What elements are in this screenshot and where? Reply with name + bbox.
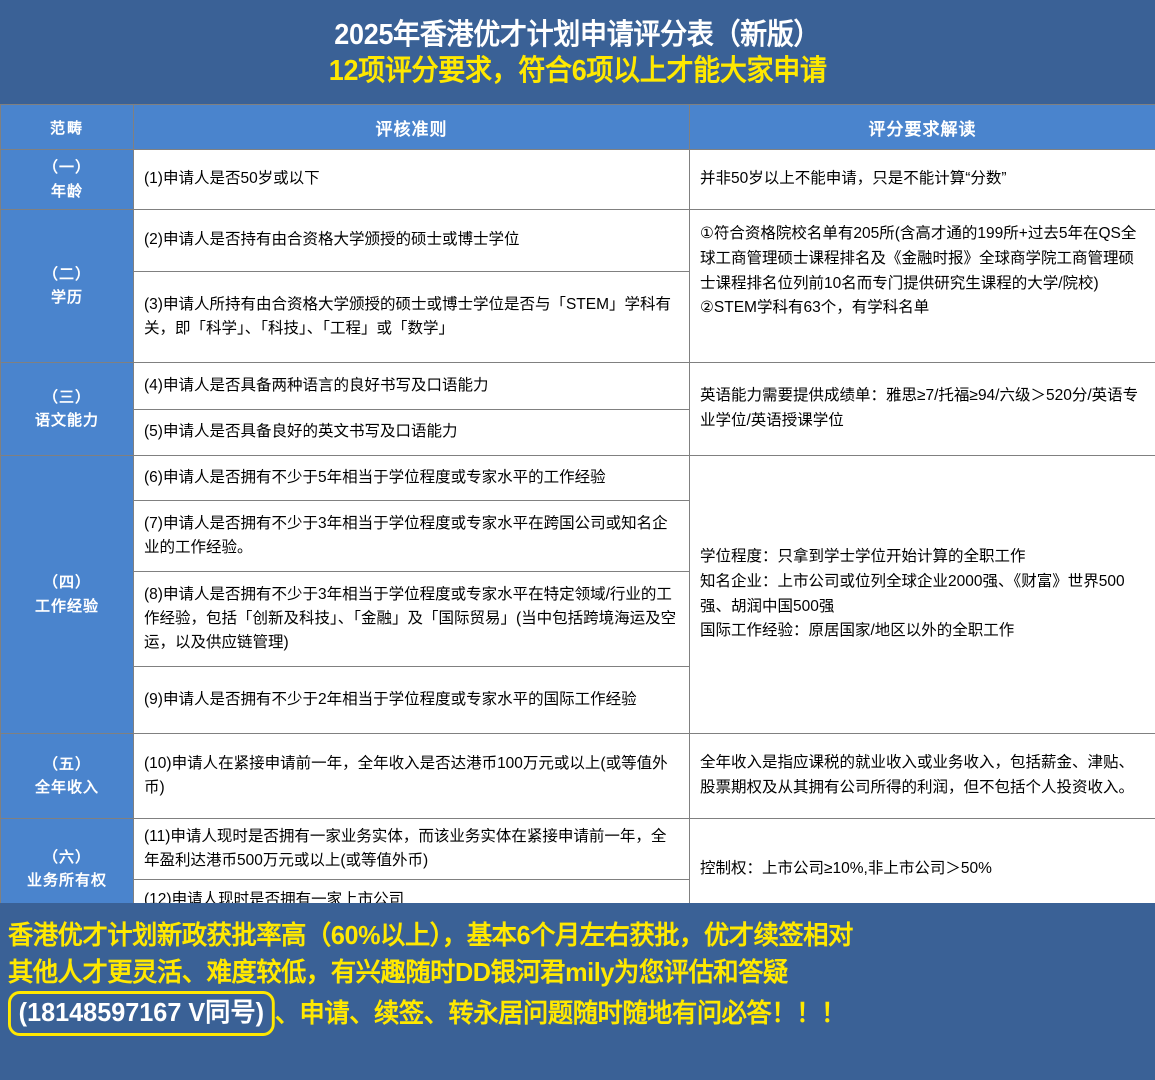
footer-line-2: 其他人才更灵活、难度较低，有兴趣随时DD银河君mily为您评估和答疑 [8,954,1113,991]
poster-root: 2025年香港优才计划申请评分表（新版） 12项评分要求，符合6项以上才能大家申… [0,0,1155,1080]
category-index: （三） [2,386,132,409]
category-name: 工作经验 [2,595,132,618]
category-cell-income: （五） 全年收入 [1,734,134,819]
poster-title-primary: 2025年香港优才计划申请评分表（新版） [335,17,821,53]
table-row: （五） 全年收入 (10)申请人在紧接申请前一年，全年收入是否达港币100万元或… [1,734,1155,819]
explanation-cell-age: 并非50岁以上不能申请，只是不能计算“分数” [690,150,1155,210]
category-index: （五） [2,753,132,776]
poster-title-secondary: 12项评分要求，符合6项以上才能大家申请 [329,53,827,89]
explanation-cell-education: ①符合资格院校名单有205所(含高才通的199所+过去5年在QS全球工商管理硕士… [690,210,1155,363]
criteria-cell-6: (6)申请人是否拥有不少于5年相当于学位程度或专家水平的工作经验 [134,456,690,501]
category-cell-experience: （四） 工作经验 [1,456,134,734]
table-head: 范畴 评核准则 评分要求解读 [1,105,1155,150]
category-name: 业务所有权 [2,869,132,892]
table-row: （一） 年龄 (1)申请人是否50岁或以下 并非50岁以上不能申请，只是不能计算… [1,150,1155,210]
category-index: （二） [2,263,132,286]
scoring-table: 范畴 评核准则 评分要求解读 （一） 年龄 (1)申请人是否50岁或以下 并非5… [0,104,1155,920]
table-row: （三） 语文能力 (4)申请人是否具备两种语言的良好书写及口语能力 英语能力需要… [1,363,1155,410]
criteria-cell-11: (11)申请人现时是否拥有一家业务实体，而该业务实体在紧接申请前一年，全年盈利达… [134,819,690,880]
category-index: （一） [2,156,132,179]
category-cell-language: （三） 语文能力 [1,363,134,456]
category-cell-education: （二） 学历 [1,210,134,363]
table-row: （四） 工作经验 (6)申请人是否拥有不少于5年相当于学位程度或专家水平的工作经… [1,456,1155,501]
criteria-cell-9: (9)申请人是否拥有不少于2年相当于学位程度或专家水平的国际工作经验 [134,667,690,734]
table-row: （六） 业务所有权 (11)申请人现时是否拥有一家业务实体，而该业务实体在紧接申… [1,819,1155,880]
footer-line-3-rest: 、申请、续签、转永居问题随时随地有问必答！！！ [275,995,846,1032]
contact-phone-badge[interactable]: (18148597167 V同号) [8,991,275,1036]
criteria-cell-2: (2)申请人是否持有由合资格大学颁授的硕士或博士学位 [134,210,690,272]
footer-promo-block: 香港优才计划新政获批率高（60%以上），基本6个月左右获批，优才续签相对 其他人… [0,903,1155,1080]
criteria-cell-5: (5)申请人是否具备良好的英文书写及口语能力 [134,410,690,456]
category-name: 年龄 [2,180,132,203]
scoring-table-wrapper: 范畴 评核准则 评分要求解读 （一） 年龄 (1)申请人是否50岁或以下 并非5… [0,104,1155,903]
category-name: 学历 [2,286,132,309]
criteria-cell-3: (3)申请人所持有由合资格大学颁授的硕士或博士学位是否与「STEM」学科有关，即… [134,272,690,363]
criteria-cell-8: (8)申请人是否拥有不少于3年相当于学位程度或专家水平在特定领域/行业的工作经验… [134,572,690,667]
table-header-row: 范畴 评核准则 评分要求解读 [1,105,1155,150]
explanation-cell-income: 全年收入是指应课税的就业收入或业务收入，包括薪金、津贴、股票期权及从其拥有公司所… [690,734,1155,819]
criteria-cell-1: (1)申请人是否50岁或以下 [134,150,690,210]
criteria-cell-10: (10)申请人在紧接申请前一年，全年收入是否达港币100万元或以上(或等值外币) [134,734,690,819]
category-index: （六） [2,846,132,869]
category-index: （四） [2,571,132,594]
poster-title-block: 2025年香港优才计划申请评分表（新版） 12项评分要求，符合6项以上才能大家申… [0,0,1155,104]
criteria-cell-4: (4)申请人是否具备两种语言的良好书写及口语能力 [134,363,690,410]
explanation-cell-experience: 学位程度：只拿到学士学位开始计算的全职工作 知名企业：上市公司或位列全球企业20… [690,456,1155,734]
header-criteria: 评核准则 [134,105,690,150]
header-explanation: 评分要求解读 [690,105,1155,150]
criteria-cell-7: (7)申请人是否拥有不少于3年相当于学位程度或专家水平在跨国公司或知名企业的工作… [134,501,690,572]
category-name: 语文能力 [2,409,132,432]
table-body: （一） 年龄 (1)申请人是否50岁或以下 并非50岁以上不能申请，只是不能计算… [1,150,1155,920]
header-category: 范畴 [1,105,134,150]
category-cell-age: （一） 年龄 [1,150,134,210]
explanation-cell-language: 英语能力需要提供成绩单：雅思≥7/托福≥94/六级＞520分/英语专业学位/英语… [690,363,1155,456]
table-row: （二） 学历 (2)申请人是否持有由合资格大学颁授的硕士或博士学位 ①符合资格院… [1,210,1155,272]
footer-line-3: (18148597167 V同号) 、申请、续签、转永居问题随时随地有问必答！！… [8,991,1113,1036]
category-name: 全年收入 [2,776,132,799]
footer-line-1: 香港优才计划新政获批率高（60%以上），基本6个月左右获批，优才续签相对 [8,917,1113,954]
